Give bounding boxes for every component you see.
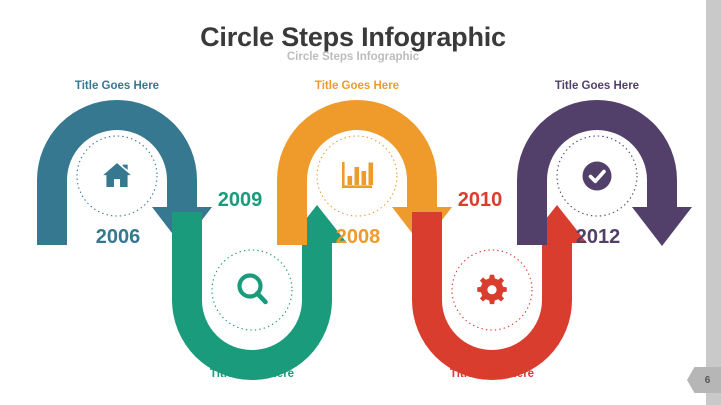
step-5-shape[interactable] [517,100,692,246]
step-5-year: 2012 [553,226,643,249]
infographic-graphic [0,0,706,405]
step-4-caption: Title Goes Here [407,368,577,380]
search-icon [240,276,266,303]
bar-chart-icon [342,162,373,188]
step-5-caption: Title Goes Here [512,80,682,92]
step-2-icon-circle [212,250,292,330]
infographic-stage: Title Goes Here 2006 Title Goes Here 200… [0,0,706,405]
step-3-year: 2008 [313,226,403,249]
step-1-year: 2006 [73,226,163,249]
gear-icon [477,275,507,304]
check-circle-icon [583,162,612,191]
step-2-year: 2009 [195,189,285,212]
step-2-caption: Title Goes Here [167,368,337,380]
step-1-caption: Title Goes Here [32,80,202,92]
home-icon [103,163,131,187]
slide-viewer: Circle Steps Infographic Circle Steps In… [0,0,721,405]
step-4-year: 2010 [435,189,525,212]
step-3-caption: Title Goes Here [272,80,442,92]
slide-canvas: Circle Steps Infographic Circle Steps In… [0,0,706,405]
